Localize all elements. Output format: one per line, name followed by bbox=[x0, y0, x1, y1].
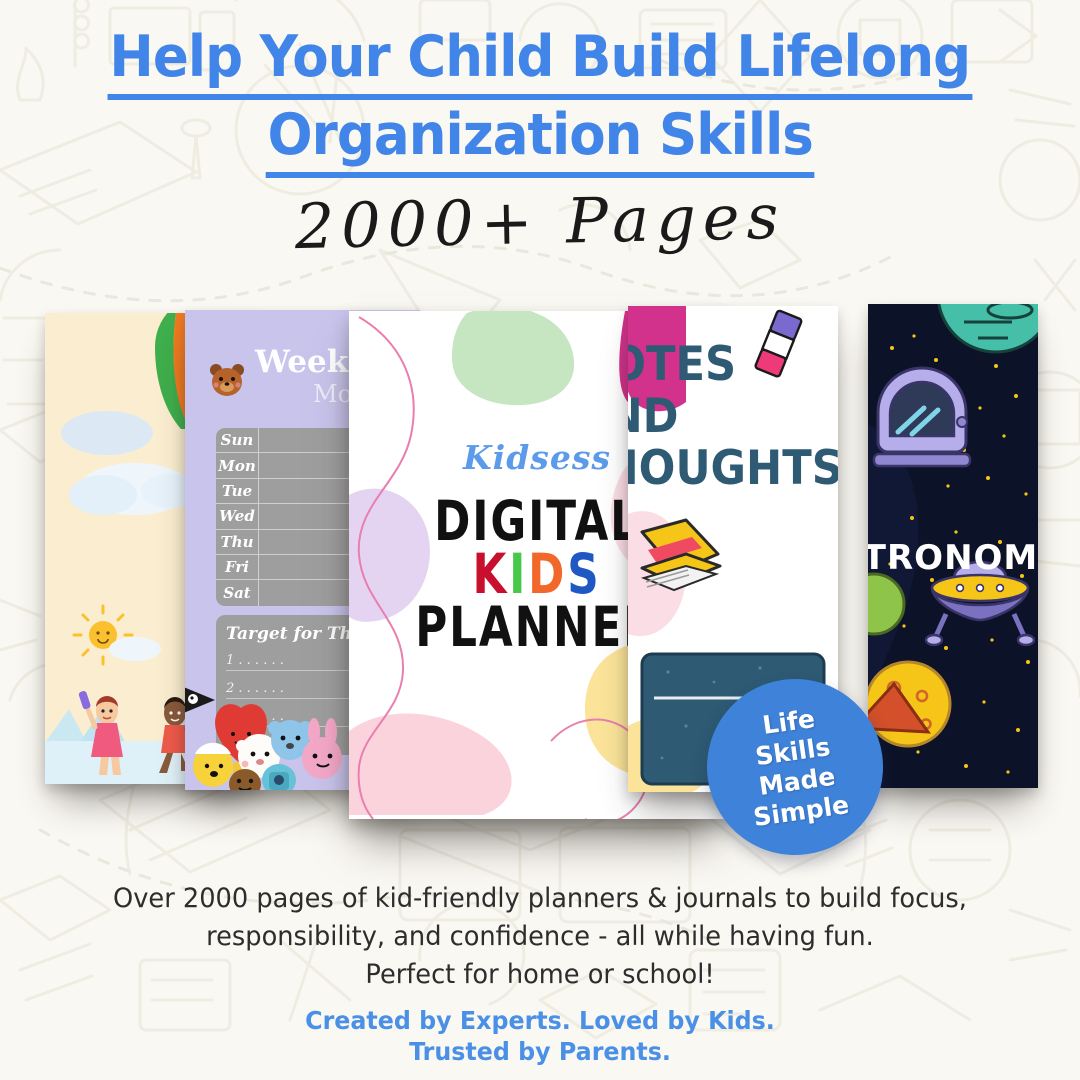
tagline: Created by Experts. Loved by Kids. Trust… bbox=[0, 1005, 1080, 1067]
astronomy-title: ASTRONOMY bbox=[868, 540, 1038, 576]
bear-sticker-icon bbox=[207, 360, 247, 400]
headline: Help Your Child Build Lifelong Organizat… bbox=[0, 22, 1080, 178]
day-label: Fri bbox=[216, 555, 259, 579]
day-label: Thu bbox=[216, 530, 259, 554]
cartoon-characters-icon bbox=[185, 684, 361, 790]
body-copy-line-2: responsibility, and confidence - all whi… bbox=[27, 918, 1053, 956]
day-label: Tue bbox=[216, 479, 259, 503]
body-copy: Over 2000 pages of kid-friendly planners… bbox=[0, 880, 1080, 994]
day-label: Wed bbox=[216, 504, 259, 528]
body-copy-line-3: Perfect for home or school! bbox=[27, 956, 1053, 994]
body-copy-line-1: Over 2000 pages of kid-friendly planners… bbox=[27, 880, 1053, 918]
tagline-line-1: Created by Experts. Loved by Kids. bbox=[27, 1005, 1053, 1036]
headline-line-1: Help Your Child Build Lifelong bbox=[108, 22, 972, 100]
notes-page-title: NOTES AND THOUGHTS bbox=[628, 339, 838, 495]
day-label: Sat bbox=[216, 580, 259, 605]
tagline-line-2: Trusted by Parents. bbox=[27, 1036, 1053, 1067]
page-astronomy[interactable]: ASTRONOMY bbox=[868, 304, 1038, 788]
day-label: Mon bbox=[216, 453, 259, 477]
headline-line-2: Organization Skills bbox=[265, 100, 814, 178]
day-label: Sun bbox=[216, 428, 259, 452]
